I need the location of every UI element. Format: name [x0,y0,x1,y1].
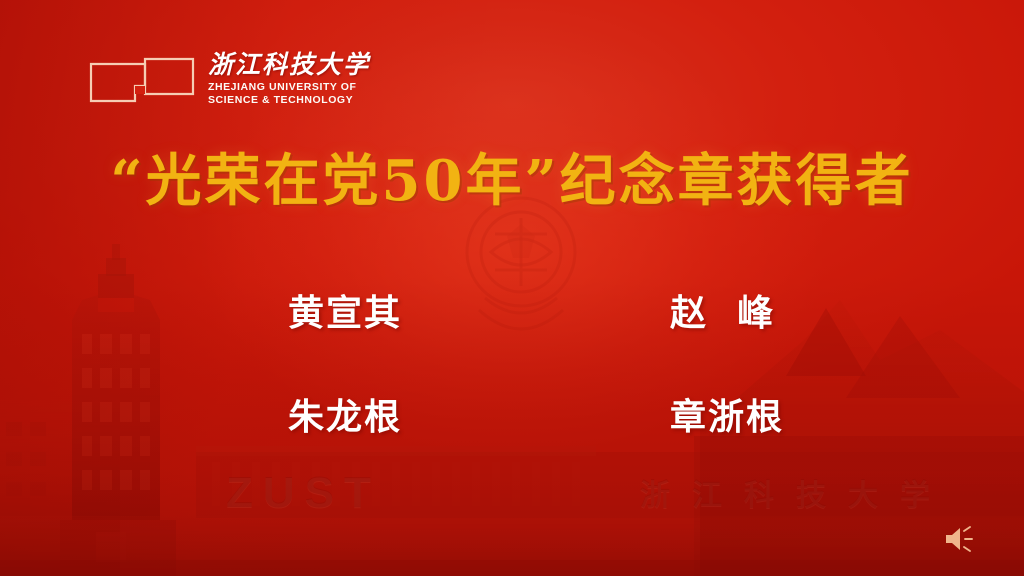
zust-logo-mark-icon [88,56,196,104]
university-name-en-line1: ZHEJIANG UNIVERSITY OF [208,81,356,93]
slide-title: “光荣在党50年”纪念章获得者 [0,136,1024,217]
university-logo-text: 浙江科技大学 ZHEJIANG UNIVERSITY OF SCIENCE & … [208,52,370,108]
speaker-icon[interactable] [942,524,976,554]
university-name-en-line2: SCIENCE & TECHNOLOGY [208,94,353,106]
honoree-name-grid: 黄宣其 赵 峰 朱龙根 章浙根 [230,284,790,440]
honoree-name: 黄宣其 [230,284,510,336]
honoree-name: 朱龙根 [230,388,510,440]
university-name-cn: 浙江科技大学 [208,52,370,77]
honoree-name: 章浙根 [510,388,790,440]
presentation-slide: ZUST 浙江科技大学 浙江科技大学 ZHEJIANG UNIVERSITY O… [0,0,1024,576]
university-logo: 浙江科技大学 ZHEJIANG UNIVERSITY OF SCIENCE & … [88,52,370,108]
honoree-name: 赵 峰 [510,284,790,336]
university-name-en: ZHEJIANG UNIVERSITY OF SCIENCE & TECHNOL… [208,81,370,108]
